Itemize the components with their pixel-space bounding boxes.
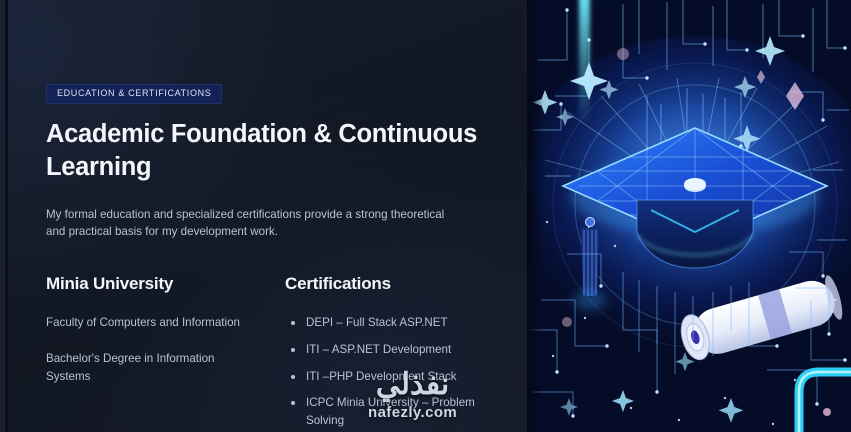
certifications-column: Certifications DEPI – Full Stack ASP.NET… xyxy=(285,274,520,432)
content-panel: EDUCATION & CERTIFICATIONS Academic Foun… xyxy=(0,0,527,432)
education-column: Minia University Faculty of Computers an… xyxy=(46,274,285,432)
education-heading: Minia University xyxy=(46,274,285,294)
section-badge: EDUCATION & CERTIFICATIONS xyxy=(46,84,222,104)
left-edge-strip-inner xyxy=(5,0,8,432)
hero-illustration xyxy=(527,0,851,432)
education-fact: Faculty of Computers and Information xyxy=(46,314,246,332)
page-title: Academic Foundation & Continuous Learnin… xyxy=(46,118,486,184)
two-column-section: Minia University Faculty of Computers an… xyxy=(46,274,527,432)
circuit-graduation-cap-graphic xyxy=(527,0,851,432)
list-item: ICPC Minia University – Problem Solving xyxy=(285,394,495,429)
certifications-heading: Certifications xyxy=(285,274,520,294)
certifications-list: DEPI – Full Stack ASP.NET ITI – ASP.NET … xyxy=(285,314,520,429)
list-item: DEPI – Full Stack ASP.NET xyxy=(285,314,495,332)
education-fact: Bachelor's Degree in Information Systems xyxy=(46,350,246,385)
intro-paragraph: My formal education and specialized cert… xyxy=(46,206,446,241)
list-item: ITI – ASP.NET Development xyxy=(285,341,495,359)
slide-root: EDUCATION & CERTIFICATIONS Academic Foun… xyxy=(0,0,851,432)
list-item: ITI –PHP Development Stack xyxy=(285,368,495,386)
